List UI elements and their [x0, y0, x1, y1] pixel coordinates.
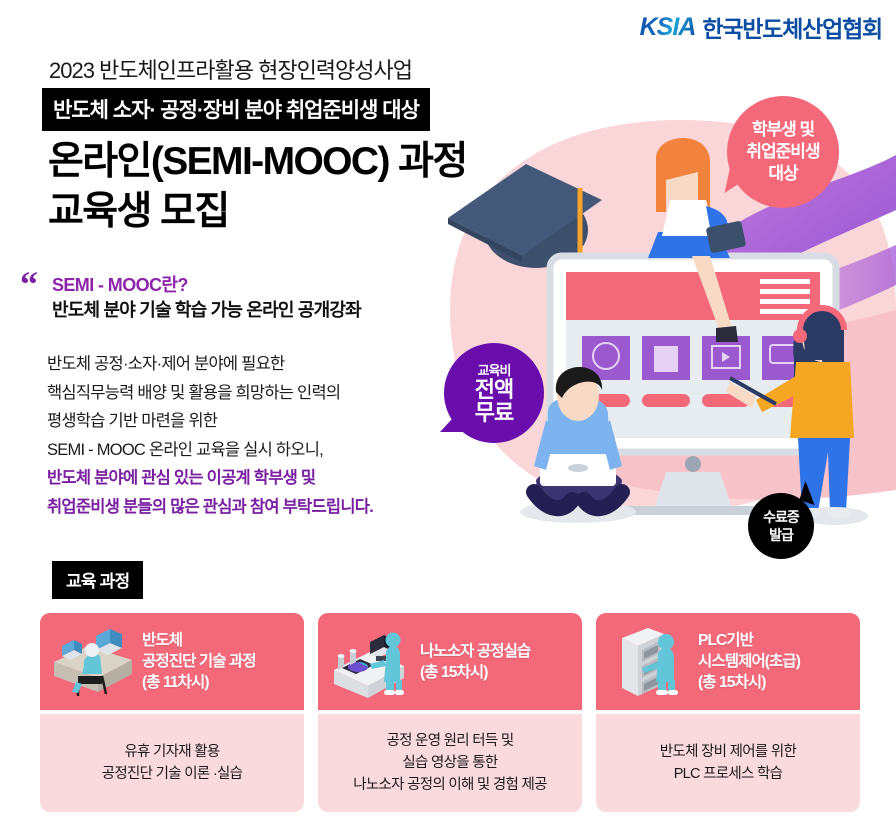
badge-free-small: 교육비 — [478, 363, 511, 378]
course-card-title: PLC기반 시스템제어(초급) (총 15차시) — [698, 630, 800, 693]
course-card-title: 반도체 공정진단 기술 과정 (총 11차시) — [142, 630, 256, 693]
course-desc-line: 나노소자 공정의 이해 및 경험 제공 — [353, 774, 547, 796]
ksia-logo: KSIA 한국반도체산업협회 — [640, 10, 882, 44]
body-line: SEMI - MOOC 온라인 교육을 실시 하오니, — [47, 436, 373, 465]
course-card-body: 유휴 기자재 활용 공정진단 기술 이론 ·실습 — [40, 714, 304, 812]
course-card-header: 나노소자 공정실습 (총 15차시) — [318, 613, 582, 710]
kicker-text: 2023 반도체인프라활용 현장인력양성사업 — [49, 53, 412, 85]
course-card-header: 반도체 공정진단 기술 과정 (총 11차시) — [40, 613, 304, 710]
badge-target-line: 학부생 및 — [752, 119, 814, 141]
quote-mark-icon: “ — [20, 270, 35, 299]
badge-certificate: 수료증 발급 — [748, 493, 814, 559]
page-title: 온라인(SEMI-MOOC) 과정 교육생 모집 — [48, 137, 467, 237]
section-label-courses: 교육 과정 — [52, 561, 143, 599]
ksia-logo-name: 한국반도체산업협회 — [702, 10, 882, 44]
body-line: 평생학습 기반 마련을 위한 — [47, 407, 373, 436]
body-highlight-line: 반도체 분야에 관심 있는 이공계 학부생 및 — [47, 464, 373, 493]
course-desc-line: 실습 영상을 통한 — [353, 752, 547, 774]
course-card[interactable]: 나노소자 공정실습 (총 15차시) 공정 운영 원리 터득 및 실습 영상을 … — [318, 613, 582, 812]
quote-subheading: 반도체 분야 기술 학습 가능 온라인 공개강좌 — [52, 296, 361, 322]
badge-cert-line-2: 발급 — [769, 526, 793, 544]
target-audience-bar: 반도체 소자· 공정·장비 분야 취업준비생 대상 — [42, 88, 430, 131]
ksia-logo-mark: KSIA — [640, 13, 696, 42]
course-desc-line: 반도체 장비 제어를 위한 — [660, 741, 796, 763]
course-card[interactable]: PLC기반 시스템제어(초급) (총 15차시) 반도체 장비 제어를 위한 P… — [596, 613, 860, 812]
course-title-line: (총 11차시) — [142, 672, 256, 693]
course-title-line: 공정진단 기술 과정 — [142, 651, 256, 672]
course-desc-line: 공정 운영 원리 터득 및 — [353, 730, 547, 752]
course-card-body: 반도체 장비 제어를 위한 PLC 프로세스 학습 — [596, 714, 860, 812]
course-card[interactable]: 반도체 공정진단 기술 과정 (총 11차시) 유휴 기자재 활용 공정진단 기… — [40, 613, 304, 812]
body-line: 반도체 공정·소자·제어 분야에 필요한 — [47, 350, 373, 379]
body-line: 핵심직무능력 배양 및 활용을 희망하는 인력의 — [47, 379, 373, 408]
course-title-line: PLC기반 — [698, 630, 800, 651]
badge-free-big-1: 전액 — [475, 378, 513, 401]
poster-root: KSIA 한국반도체산업협회 — [0, 0, 896, 824]
badge-target-line: 대상 — [768, 163, 797, 185]
course-desc-line: PLC 프로세스 학습 — [660, 763, 796, 785]
course-desc-line: 공정진단 기술 이론 ·실습 — [102, 763, 243, 785]
page-title-line-2: 교육생 모집 — [48, 187, 467, 237]
badge-free-big-2: 무료 — [475, 401, 513, 424]
badge-target-audience: 학부생 및 취업준비생 대상 — [727, 96, 839, 208]
course-title-line: 시스템제어(초급) — [698, 651, 800, 672]
desk-workstation-icon — [48, 626, 136, 698]
course-card-title: 나노소자 공정실습 (총 15차시) — [420, 641, 530, 683]
server-rack-icon — [604, 626, 692, 698]
course-title-line: (총 15차시) — [698, 672, 800, 693]
course-card-header: PLC기반 시스템제어(초급) (총 15차시) — [596, 613, 860, 710]
course-title-line: 반도체 — [142, 630, 256, 651]
quote-heading: SEMI - MOOC란? — [52, 271, 188, 297]
course-title-line: (총 15차시) — [420, 662, 530, 683]
page-title-line-1: 온라인(SEMI-MOOC) 과정 — [48, 137, 467, 187]
course-desc-line: 유휴 기자재 활용 — [102, 741, 243, 763]
wafer-process-equipment-icon — [326, 626, 414, 698]
course-card-list: 반도체 공정진단 기술 과정 (총 11차시) 유휴 기자재 활용 공정진단 기… — [40, 613, 860, 812]
body-highlight-line: 취업준비생 분들의 많은 관심과 참여 부탁드립니다. — [47, 493, 373, 522]
body-paragraph: 반도체 공정·소자·제어 분야에 필요한 핵심직무능력 배양 및 활용을 희망하… — [47, 350, 373, 521]
course-card-body: 공정 운영 원리 터득 및 실습 영상을 통한 나노소자 공정의 이해 및 경험… — [318, 714, 582, 812]
badge-target-line: 취업준비생 — [746, 141, 819, 163]
badge-free-tuition: 교육비 전액 무료 — [444, 343, 544, 443]
course-title-line: 나노소자 공정실습 — [420, 641, 530, 662]
badge-cert-line-1: 수료증 — [763, 508, 799, 526]
